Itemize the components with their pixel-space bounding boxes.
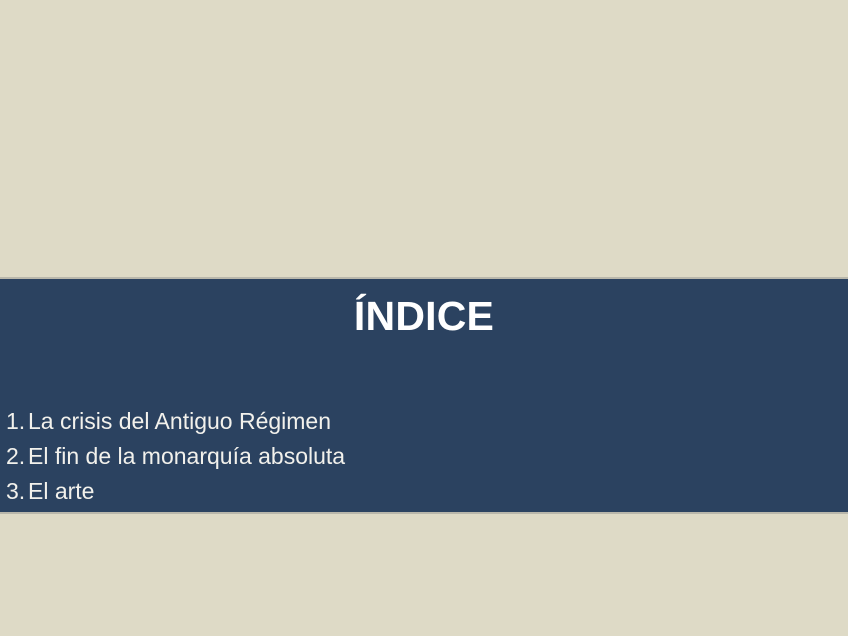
- title-content-band: ÍNDICE 1. La crisis del Antiguo Régimen …: [0, 277, 848, 514]
- presentation-slide: ÍNDICE 1. La crisis del Antiguo Régimen …: [0, 0, 848, 636]
- list-item[interactable]: 3. El arte: [0, 474, 848, 509]
- list-item-label: El arte: [28, 474, 94, 509]
- list-item-number: 2.: [0, 439, 28, 474]
- list-item-number: 1.: [0, 404, 28, 439]
- list-item-label: La crisis del Antiguo Régimen: [28, 404, 331, 439]
- page-title: ÍNDICE: [0, 293, 848, 339]
- list-item-label: El fin de la monarquía absoluta: [28, 439, 345, 474]
- list-item[interactable]: 2. El fin de la monarquía absoluta: [0, 439, 848, 474]
- list-item[interactable]: 1. La crisis del Antiguo Régimen: [0, 404, 848, 439]
- agenda-list: 1. La crisis del Antiguo Régimen 2. El f…: [0, 404, 848, 509]
- list-item-number: 3.: [0, 474, 28, 509]
